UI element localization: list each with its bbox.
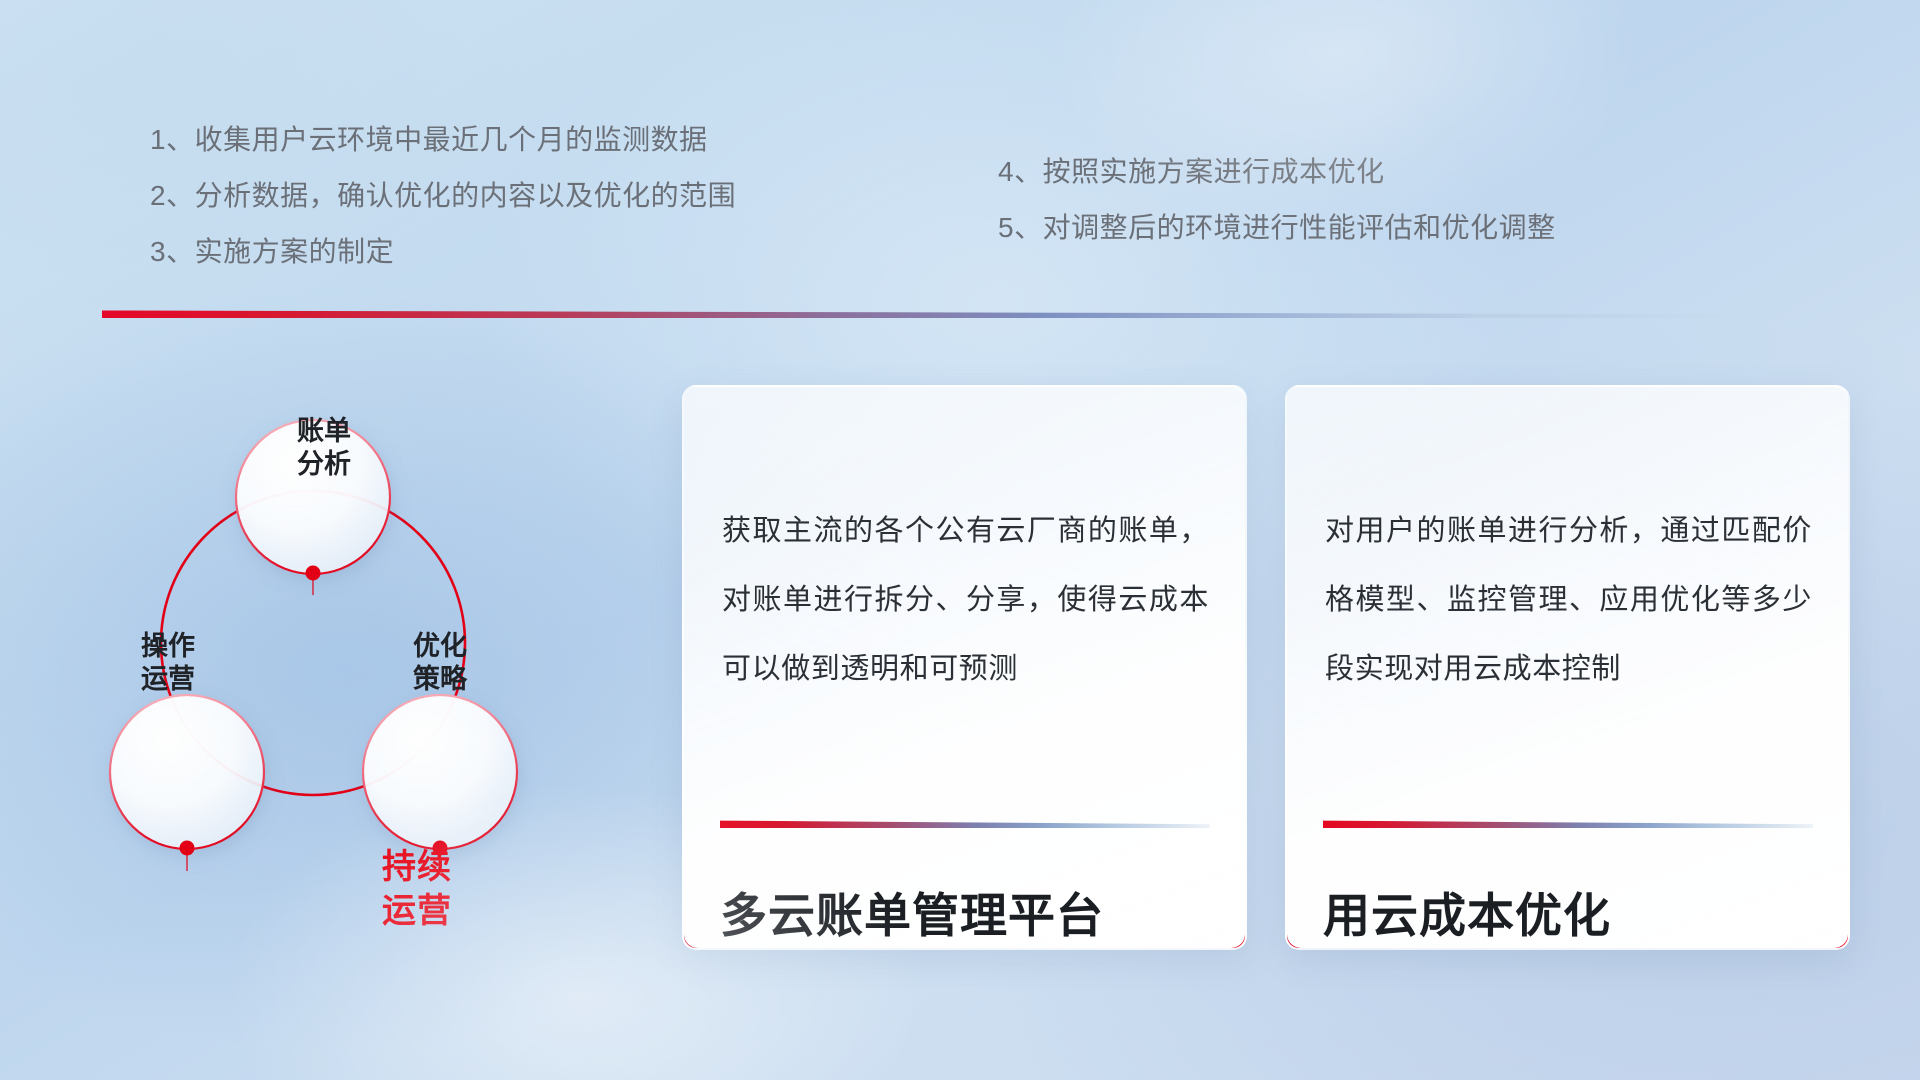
bubble-label-bill-analysis: 账单 分析 [254, 415, 394, 481]
section-divider-bar [102, 308, 1722, 318]
steps-right-column: 4、按照实施方案进行成本优化 5、对调整后的环境进行性能评估和优化调整 [998, 158, 1556, 270]
step-item-5: 5、对调整后的环境进行性能评估和优化调整 [998, 214, 1556, 242]
bubble-label-operations: 操作 运营 [98, 630, 238, 696]
slide-canvas: 1、收集用户云环境中最近几个月的监测数据 2、分析数据，确认优化的内容以及优化的… [0, 0, 1920, 1080]
feature-card-rule-bar [720, 819, 1210, 828]
node-dot-left [180, 841, 195, 856]
step-item-1: 1、收集用户云环境中最近几个月的监测数据 [150, 126, 736, 154]
step-item-2: 2、分析数据，确认优化的内容以及优化的范围 [150, 182, 736, 210]
step-item-4: 4、按照实施方案进行成本优化 [998, 158, 1556, 186]
bubble-label-line-2: 分析 [254, 448, 394, 481]
center-label-line-1: 持续 [327, 845, 507, 889]
bubble-optimization [363, 695, 517, 849]
diagram-center-label: 持续 运营 [327, 845, 507, 933]
bubble-label-optimization: 优化 策略 [370, 630, 510, 696]
feature-card-body: 对用户的账单进行分析，通过匹配价格模型、监控管理、应用优化等多少段实现对用云成本… [1325, 497, 1812, 704]
steps-left-column: 1、收集用户云环境中最近几个月的监测数据 2、分析数据，确认优化的内容以及优化的… [150, 126, 736, 294]
feature-card-rule [720, 819, 1210, 828]
feature-card-rule-bar [1323, 819, 1813, 828]
node-dot-top [306, 566, 321, 581]
bubble-label-line-1: 操作 [98, 630, 238, 663]
step-item-3: 3、实施方案的制定 [150, 238, 736, 266]
feature-card-title: 用云成本优化 [1323, 877, 1818, 946]
bubble-operations [110, 695, 264, 849]
bubble-label-line-1: 优化 [370, 630, 510, 663]
bubble-label-line-1: 账单 [254, 415, 394, 448]
bubble-label-line-2: 策略 [370, 663, 510, 696]
feature-card-multi-cloud-billing[interactable]: 获取主流的各个公有云厂商的账单，对账单进行拆分、分享，使得云成本可以做到透明和可… [682, 385, 1247, 950]
center-label-line-2: 运营 [327, 889, 507, 933]
feature-card-body: 获取主流的各个公有云厂商的账单，对账单进行拆分、分享，使得云成本可以做到透明和可… [722, 497, 1209, 704]
feature-card-title: 多云账单管理平台 [720, 877, 1215, 946]
feature-card-rule [1323, 819, 1813, 828]
section-divider [102, 308, 1722, 318]
bubble-label-line-2: 运营 [98, 663, 238, 696]
feature-card-cloud-cost-optimization[interactable]: 对用户的账单进行分析，通过匹配价格模型、监控管理、应用优化等多少段实现对用云成本… [1285, 385, 1850, 950]
